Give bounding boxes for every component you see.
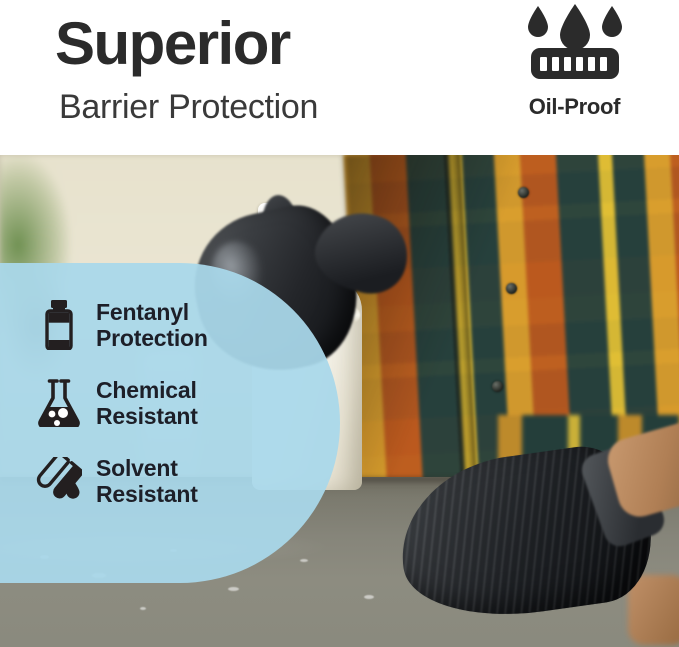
- test-tube-droplet-icon: [36, 457, 82, 505]
- countertop-speck: [228, 587, 239, 591]
- flask-icon: [36, 379, 82, 427]
- countertop-speck: [140, 607, 146, 610]
- oil-drops-on-fabric-icon: [492, 4, 657, 85]
- features-panel-inner: Fentanyl Protection: [0, 263, 260, 583]
- shirt-button: [518, 187, 529, 198]
- product-infographic: Superior Barrier Protection: [0, 0, 679, 647]
- features-panel: Fentanyl Protection: [0, 263, 340, 583]
- shirt-button: [492, 381, 503, 392]
- feature-label: Fentanyl Protection: [96, 299, 208, 351]
- oil-proof-badge: Oil-Proof: [492, 4, 657, 120]
- page-subtitle: Barrier Protection: [59, 90, 455, 124]
- countertop-speck: [364, 595, 374, 599]
- countertop-speck: [300, 559, 308, 562]
- feature-label: Solvent Resistant: [96, 455, 198, 507]
- feature-list: Fentanyl Protection: [36, 297, 266, 531]
- vial-icon: [36, 300, 82, 350]
- feature-item-fentanyl-protection: Fentanyl Protection: [36, 297, 266, 353]
- shirt-button: [506, 283, 517, 294]
- header-text-block: Superior Barrier Protection: [55, 14, 455, 124]
- page-title: Superior: [55, 14, 455, 74]
- feature-item-solvent-resistant: Solvent Resistant: [36, 453, 266, 509]
- header-band: Superior Barrier Protection: [0, 0, 679, 155]
- feature-item-chemical-resistant: Chemical Resistant: [36, 375, 266, 431]
- oil-proof-label: Oil-Proof: [492, 94, 657, 120]
- feature-label: Chemical Resistant: [96, 377, 198, 429]
- forearm-lower: [628, 575, 679, 645]
